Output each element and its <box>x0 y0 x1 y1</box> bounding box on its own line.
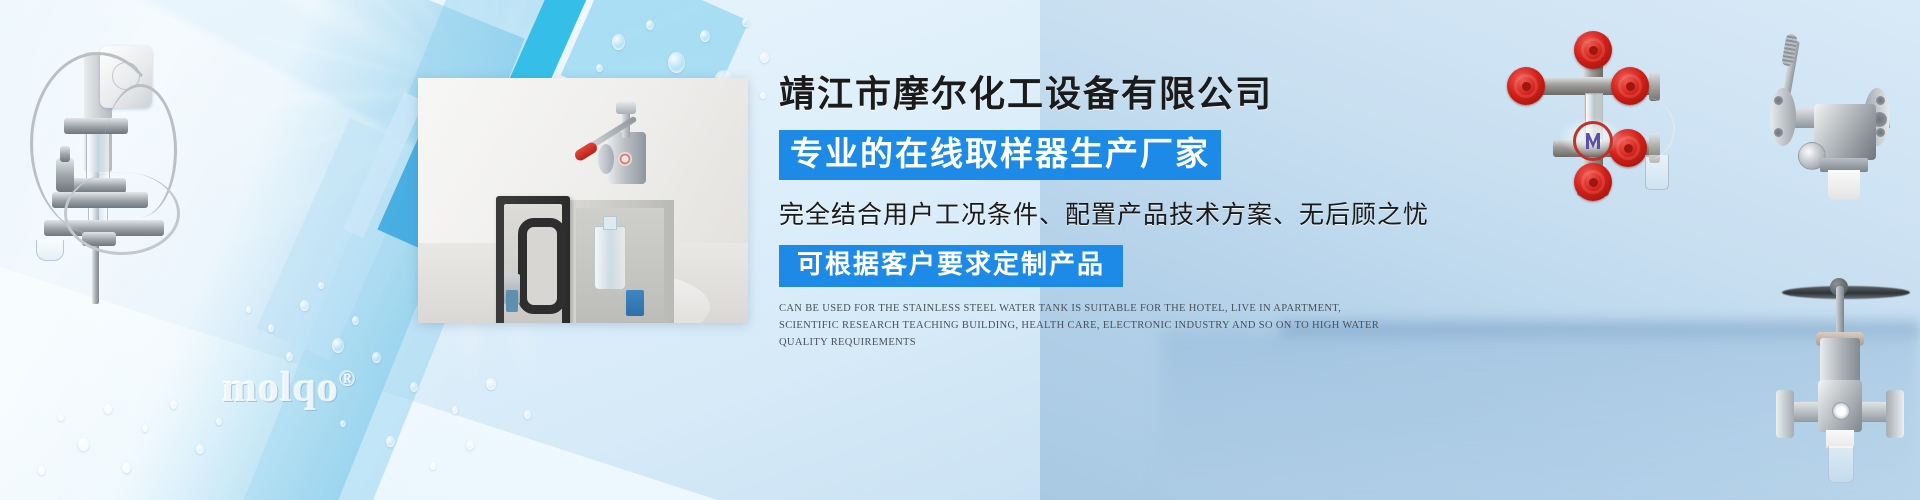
water-droplet <box>38 466 45 475</box>
valve-brand-label <box>618 152 632 166</box>
product-image-gate-valve <box>1770 238 1920 428</box>
tagline-row: 专业的在线取样器生产厂家 <box>779 130 1419 180</box>
handwheel-top <box>1574 31 1612 69</box>
company-name: 靖江市摩尔化工设备有限公司 <box>779 72 1419 117</box>
english-description: CAN BE USED FOR THE STAINLESS STEEL WATE… <box>779 300 1387 351</box>
blue-container <box>626 290 644 316</box>
water-droplet <box>700 30 710 42</box>
water-droplet <box>332 338 344 353</box>
registered-trademark-icon: ® <box>339 366 356 391</box>
water-droplet <box>142 424 148 432</box>
water-droplet <box>318 282 324 289</box>
sample-beaker <box>36 240 64 261</box>
sample-bottle-neck <box>603 216 617 230</box>
sample-vial <box>1645 155 1669 190</box>
discharge-hose <box>1639 97 1675 161</box>
water-droplet <box>122 462 131 473</box>
brand-logo-badge <box>1832 402 1850 420</box>
product-image-lever-valve <box>1768 28 1918 213</box>
sample-bottle <box>594 226 626 290</box>
product-image-pole-sampler <box>8 22 183 304</box>
water-droplet <box>760 92 766 99</box>
brand-seal-emblem <box>1559 117 1623 157</box>
accent-stripe-light <box>343 92 424 238</box>
water-droplet <box>410 382 418 392</box>
promotional-banner: 靖江市摩尔化工设备有限公司 专业的在线取样器生产厂家 完全结合用户工况条件、配置… <box>0 0 1920 500</box>
water-droplet <box>352 316 359 325</box>
water-droplet <box>340 420 346 427</box>
text-content-block: 靖江市摩尔化工设备有限公司 专业的在线取样器生产厂家 完全结合用户工况条件、配置… <box>779 72 1419 351</box>
water-droplet <box>78 438 89 451</box>
pipe-arm-left <box>1792 402 1820 422</box>
pipe-arm-right <box>1860 402 1888 422</box>
bolt-hole <box>1876 96 1885 105</box>
water-droplet <box>430 462 436 470</box>
water-droplet <box>524 410 531 419</box>
bolt-hole <box>1774 96 1783 105</box>
bolt-hole <box>1774 128 1783 137</box>
water-droplet <box>486 378 496 390</box>
valve-flange <box>598 144 614 174</box>
door-latch-tag <box>506 290 518 312</box>
water-droplet <box>452 406 458 414</box>
water-droplet <box>58 414 64 421</box>
handwheel-bottom <box>1574 163 1612 201</box>
water-droplet <box>196 444 204 454</box>
tagline-highlight: 专业的在线取样器生产厂家 <box>779 130 1221 180</box>
water-droplet <box>466 440 474 450</box>
top-mounted-valve <box>596 108 654 194</box>
water-droplet <box>268 324 274 332</box>
water-droplet <box>596 64 603 72</box>
sample-tube <box>1828 446 1854 483</box>
accent-stripe-pale <box>256 118 423 361</box>
watermark-logo-text: molqo <box>222 365 339 411</box>
valve-cap <box>616 102 636 114</box>
sample-cup <box>1828 170 1860 200</box>
flange-right <box>1886 390 1904 438</box>
bolt-hole <box>1876 128 1885 137</box>
handwheel-left <box>1507 67 1545 105</box>
water-droplet <box>668 52 685 73</box>
seal-laurel-ring <box>1573 121 1613 161</box>
water-droplet <box>742 18 749 27</box>
custom-badge-row: 可根据客户要求定制产品 <box>779 245 1419 287</box>
cabinet-door-window <box>518 218 566 314</box>
water-droplet <box>216 418 222 425</box>
water-droplet <box>246 306 251 313</box>
water-droplet <box>760 52 769 63</box>
flange-left <box>1770 88 1796 146</box>
water-droplet <box>104 404 112 414</box>
product-image-cross-sampler <box>1503 35 1683 205</box>
water-droplet <box>286 352 293 361</box>
water-droplet <box>646 20 654 30</box>
custom-product-badge: 可根据客户要求定制产品 <box>779 245 1123 287</box>
sub-headline: 完全结合用户工况条件、配置产品技术方案、无后顾之忧 <box>779 195 1419 231</box>
flange-left <box>1776 390 1794 438</box>
water-droplet <box>612 34 625 50</box>
valve-bonnet <box>1820 338 1860 384</box>
water-droplet <box>170 400 177 409</box>
hose-lower <box>64 172 180 255</box>
water-droplet <box>300 300 309 311</box>
watermark-logo: molqo® <box>222 364 356 412</box>
center-product-photo <box>418 78 748 323</box>
water-droplet <box>386 436 395 447</box>
flange-right <box>1649 71 1660 101</box>
water-droplet <box>372 352 381 363</box>
